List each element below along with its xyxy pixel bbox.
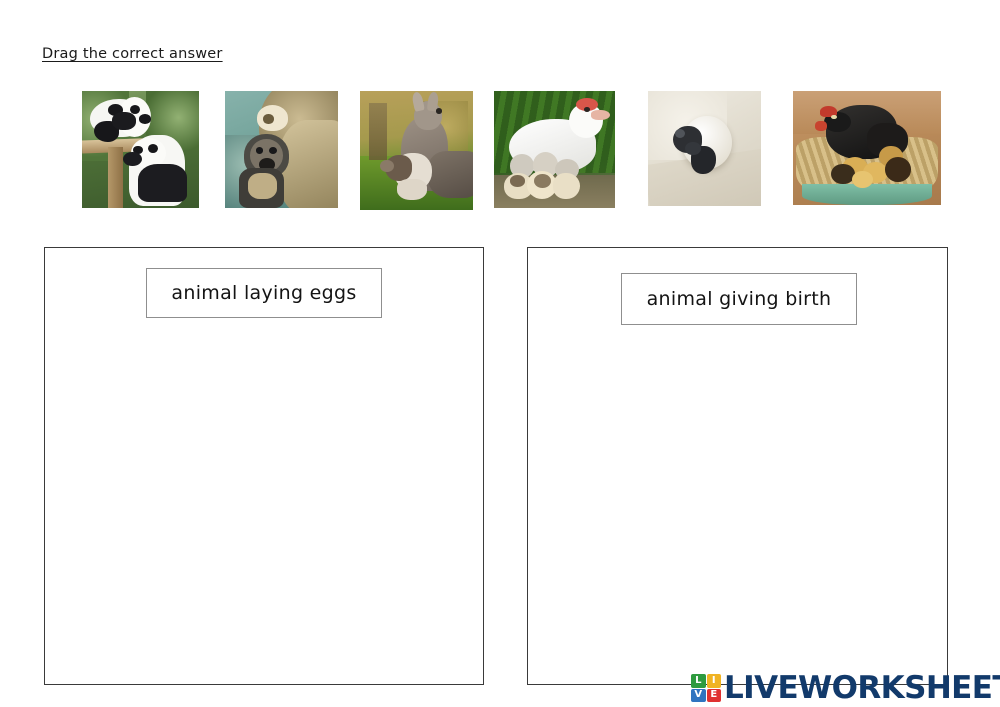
draggable-image-duck-with-ducklings[interactable] [494,91,615,208]
draggable-image-turtle-hatching-from-egg[interactable] [648,91,761,206]
logo-tile-l: L [691,674,706,688]
draggable-image-hen-with-chicks[interactable] [793,91,941,205]
draggable-image-panda-pair[interactable] [82,91,199,208]
image-strip [0,0,1000,230]
logo-tile-e: E [707,689,722,703]
logo-wordmark: LIVEWORKSHEETS [724,673,1000,704]
draggable-image-monkey-mother-and-baby[interactable] [225,91,338,208]
category-label-eggs[interactable]: animal laying eggs [146,268,382,318]
liveworksheets-logo-icon: L I V E [691,674,721,702]
logo-tile-v: V [691,689,706,703]
draggable-image-kangaroo-with-joey[interactable] [360,91,473,210]
logo-tile-i: I [707,674,722,688]
category-label-birth[interactable]: animal giving birth [621,273,857,325]
worksheet-page: Drag the correct answer [0,0,1000,707]
liveworksheets-logo[interactable]: L I V E LIVEWORKSHEETS [691,670,1000,706]
